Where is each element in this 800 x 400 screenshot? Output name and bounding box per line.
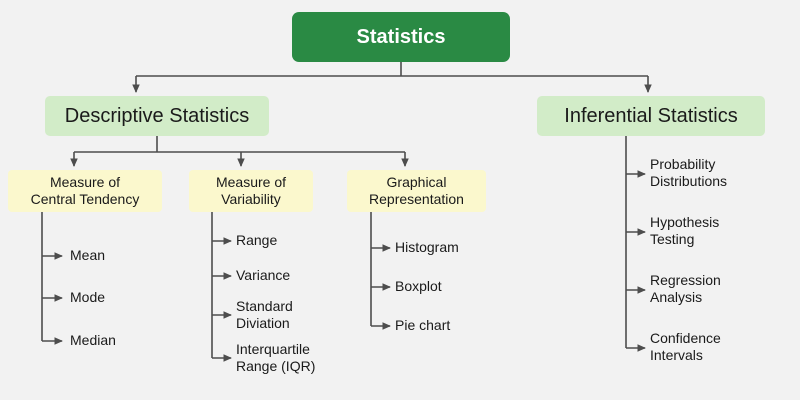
leaf-variance[interactable]: Variance	[236, 267, 290, 284]
node-graphical-representation-label: Graphical Representation	[369, 174, 464, 208]
leaf-boxplot[interactable]: Boxplot	[395, 278, 442, 295]
node-measure-of-variability[interactable]: Measure of Variability	[189, 170, 313, 212]
node-statistics[interactable]: Statistics	[292, 12, 510, 62]
leaf-histogram[interactable]: Histogram	[395, 239, 459, 256]
node-descriptive-statistics-label: Descriptive Statistics	[65, 105, 250, 128]
node-measure-of-variability-label: Measure of Variability	[216, 174, 286, 208]
leaf-standard-deviation[interactable]: Standard Diviation	[236, 298, 293, 332]
leaf-median[interactable]: Median	[70, 332, 116, 349]
node-graphical-representation[interactable]: Graphical Representation	[347, 170, 486, 212]
leaf-probability-distributions[interactable]: Probability Distributions	[650, 156, 727, 190]
node-statistics-label: Statistics	[357, 26, 446, 49]
leaf-range[interactable]: Range	[236, 232, 277, 249]
node-measure-of-central-tendency-label: Measure of Central Tendency	[31, 174, 140, 208]
statistics-tree-diagram: Statistics Descriptive Statistics Infere…	[0, 0, 800, 400]
node-inferential-statistics-label: Inferential Statistics	[564, 105, 737, 128]
leaf-regression-analysis[interactable]: Regression Analysis	[650, 272, 721, 306]
leaf-mode[interactable]: Mode	[70, 289, 105, 306]
leaf-interquartile-range[interactable]: Interquartile Range (IQR)	[236, 341, 315, 375]
leaf-confidence-intervals[interactable]: Confidence Intervals	[650, 330, 721, 364]
node-descriptive-statistics[interactable]: Descriptive Statistics	[45, 96, 269, 136]
leaf-pie-chart[interactable]: Pie chart	[395, 317, 450, 334]
leaf-hypothesis-testing[interactable]: Hypothesis Testing	[650, 214, 719, 248]
node-inferential-statistics[interactable]: Inferential Statistics	[537, 96, 765, 136]
node-measure-of-central-tendency[interactable]: Measure of Central Tendency	[8, 170, 162, 212]
leaf-mean[interactable]: Mean	[70, 247, 105, 264]
